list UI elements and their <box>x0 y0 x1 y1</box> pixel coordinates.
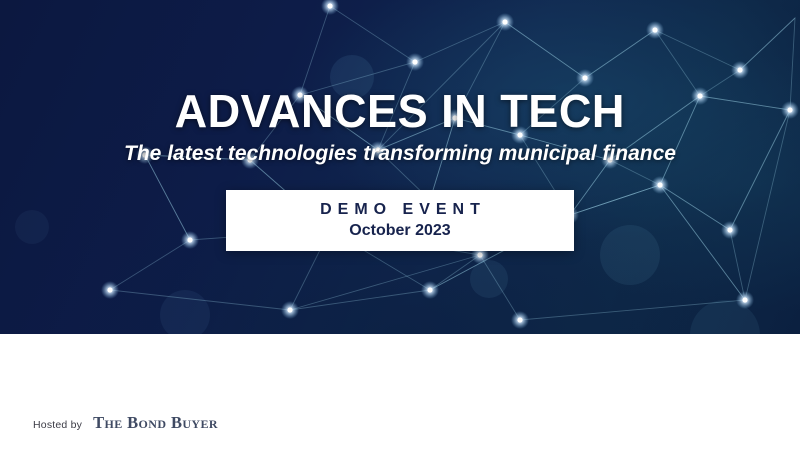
title-block: ADVANCES IN TECH The latest technologies… <box>0 0 800 334</box>
page-subtitle: The latest technologies transforming mun… <box>124 142 676 166</box>
presentation-slide: ADVANCES IN TECH The latest technologies… <box>0 0 800 450</box>
event-date: October 2023 <box>226 222 574 240</box>
event-name: DEMO EVENT <box>226 201 574 219</box>
hosted-by-label: Hosted by <box>33 419 82 431</box>
bond-buyer-logo[interactable]: The Bond Buyer <box>93 413 218 433</box>
event-info-box: DEMO EVENT October 2023 <box>226 190 574 251</box>
hosted-by-group: Hosted by The Bond Buyer <box>33 413 218 433</box>
footer-bar: Hosted by The Bond Buyer Sponsored by Ad… <box>0 334 800 450</box>
hero-banner: ADVANCES IN TECH The latest technologies… <box>0 0 800 334</box>
page-title: ADVANCES IN TECH <box>175 84 625 138</box>
